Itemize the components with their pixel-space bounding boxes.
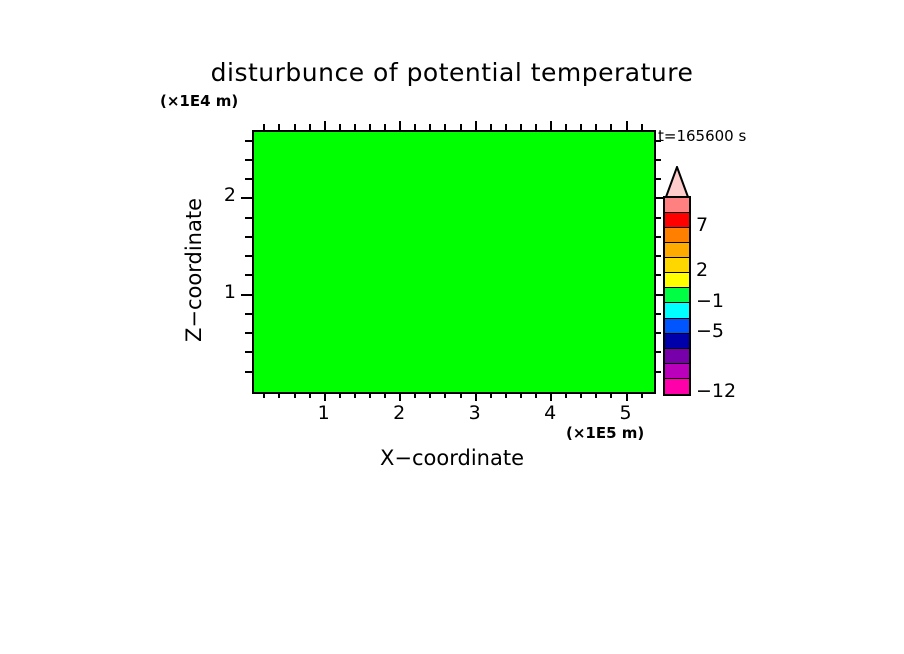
colorbar-swatch xyxy=(665,334,689,349)
x-top-tick xyxy=(490,124,492,130)
y-right-tick xyxy=(654,371,661,373)
timestamp-annotation: t=165600 s xyxy=(658,127,746,145)
x-minor-tick xyxy=(641,392,643,398)
x-minor-tick xyxy=(339,392,341,398)
colorbar-swatch xyxy=(665,243,689,258)
x-tick-label: 1 xyxy=(304,402,344,424)
x-tick-label: 5 xyxy=(606,402,646,424)
x-tick-label: 3 xyxy=(455,402,495,424)
y-minor-tick xyxy=(245,217,252,219)
x-major-tick xyxy=(475,392,477,401)
y-right-tick xyxy=(654,255,661,257)
colorbar-arrow-icon xyxy=(663,166,691,198)
x-top-tick xyxy=(475,121,477,130)
y-right-tick xyxy=(654,351,661,353)
x-major-tick xyxy=(550,392,552,401)
x-minor-tick xyxy=(278,392,280,398)
y-minor-tick xyxy=(245,236,252,238)
x-top-tick xyxy=(278,124,280,130)
y-minor-tick xyxy=(245,332,252,334)
x-minor-tick xyxy=(565,392,567,398)
x-top-tick xyxy=(520,124,522,130)
y-right-tick xyxy=(654,159,661,161)
y-minor-tick xyxy=(245,351,252,353)
y-axis-title: Z−coordinate xyxy=(182,70,206,470)
figure-root: disturbunce of potential temperature (×1… xyxy=(0,0,904,654)
colorbar-swatch xyxy=(665,364,689,379)
x-top-tick xyxy=(550,121,552,130)
x-minor-tick xyxy=(263,392,265,398)
colorbar-swatch xyxy=(665,288,689,303)
colorbar-swatch xyxy=(665,198,689,213)
y-minor-tick xyxy=(245,255,252,257)
colorbar-swatch xyxy=(665,303,689,318)
colorbar-swatch xyxy=(665,258,689,273)
x-top-tick xyxy=(460,124,462,130)
y-major-tick xyxy=(241,197,252,199)
y-right-tick xyxy=(654,217,661,219)
x-top-tick xyxy=(505,124,507,130)
x-minor-tick xyxy=(505,392,507,398)
x-minor-tick xyxy=(354,392,356,398)
x-minor-tick xyxy=(384,392,386,398)
x-top-tick xyxy=(641,124,643,130)
x-top-tick xyxy=(354,124,356,130)
x-top-tick xyxy=(309,124,311,130)
y-right-tick xyxy=(654,332,661,334)
x-minor-tick xyxy=(520,392,522,398)
x-minor-tick xyxy=(460,392,462,398)
x-minor-tick xyxy=(595,392,597,398)
x-top-tick xyxy=(535,124,537,130)
x-top-tick xyxy=(580,124,582,130)
x-top-tick xyxy=(294,124,296,130)
x-minor-tick xyxy=(429,392,431,398)
y-minor-tick xyxy=(245,178,252,180)
x-major-tick xyxy=(399,392,401,401)
y-major-tick xyxy=(241,294,252,296)
figure-title: disturbunce of potential temperature xyxy=(0,58,904,87)
y-minor-tick xyxy=(245,274,252,276)
colorbar-swatch xyxy=(665,319,689,334)
colorbar-label: 7 xyxy=(696,214,708,236)
x-top-tick xyxy=(429,124,431,130)
colorbar-label: −1 xyxy=(696,290,724,312)
colorbar-swatch xyxy=(665,379,689,394)
colorbar-label: 2 xyxy=(696,259,708,281)
x-top-tick xyxy=(324,121,326,130)
x-minor-tick xyxy=(294,392,296,398)
y-right-tick xyxy=(654,274,661,276)
y-right-tick xyxy=(654,313,661,315)
x-top-tick xyxy=(384,124,386,130)
x-minor-tick xyxy=(580,392,582,398)
x-top-tick xyxy=(399,121,401,130)
y-right-tick xyxy=(654,178,661,180)
x-top-tick xyxy=(369,124,371,130)
x-tick-label: 4 xyxy=(530,402,570,424)
x-minor-tick xyxy=(369,392,371,398)
x-tick-label: 2 xyxy=(379,402,419,424)
x-major-tick xyxy=(626,392,628,401)
x-minor-tick xyxy=(610,392,612,398)
y-minor-tick xyxy=(245,313,252,315)
y-minor-tick xyxy=(245,159,252,161)
x-top-tick xyxy=(565,124,567,130)
x-axis-unit-label: (×1E5 m) xyxy=(566,424,644,442)
x-minor-tick xyxy=(309,392,311,398)
x-axis-title: X−coordinate xyxy=(252,446,652,470)
x-top-tick xyxy=(626,121,628,130)
x-minor-tick xyxy=(490,392,492,398)
x-top-tick xyxy=(610,124,612,130)
y-right-tick xyxy=(654,140,661,142)
x-top-tick xyxy=(444,124,446,130)
y-minor-tick xyxy=(245,140,252,142)
colorbar-label: −5 xyxy=(696,320,724,342)
x-top-tick xyxy=(414,124,416,130)
colorbar-swatch xyxy=(665,228,689,243)
x-top-tick xyxy=(339,124,341,130)
colorbar xyxy=(663,196,691,396)
x-minor-tick xyxy=(414,392,416,398)
contour-plot-area xyxy=(252,130,656,394)
colorbar-swatch xyxy=(665,213,689,228)
contour-field xyxy=(254,132,654,392)
colorbar-label: −12 xyxy=(696,380,736,402)
x-minor-tick xyxy=(444,392,446,398)
x-top-tick xyxy=(263,124,265,130)
x-major-tick xyxy=(324,392,326,401)
x-top-tick xyxy=(595,124,597,130)
colorbar-swatch xyxy=(665,349,689,364)
y-right-tick xyxy=(654,236,661,238)
x-minor-tick xyxy=(535,392,537,398)
colorbar-swatch xyxy=(665,273,689,288)
y-minor-tick xyxy=(245,371,252,373)
